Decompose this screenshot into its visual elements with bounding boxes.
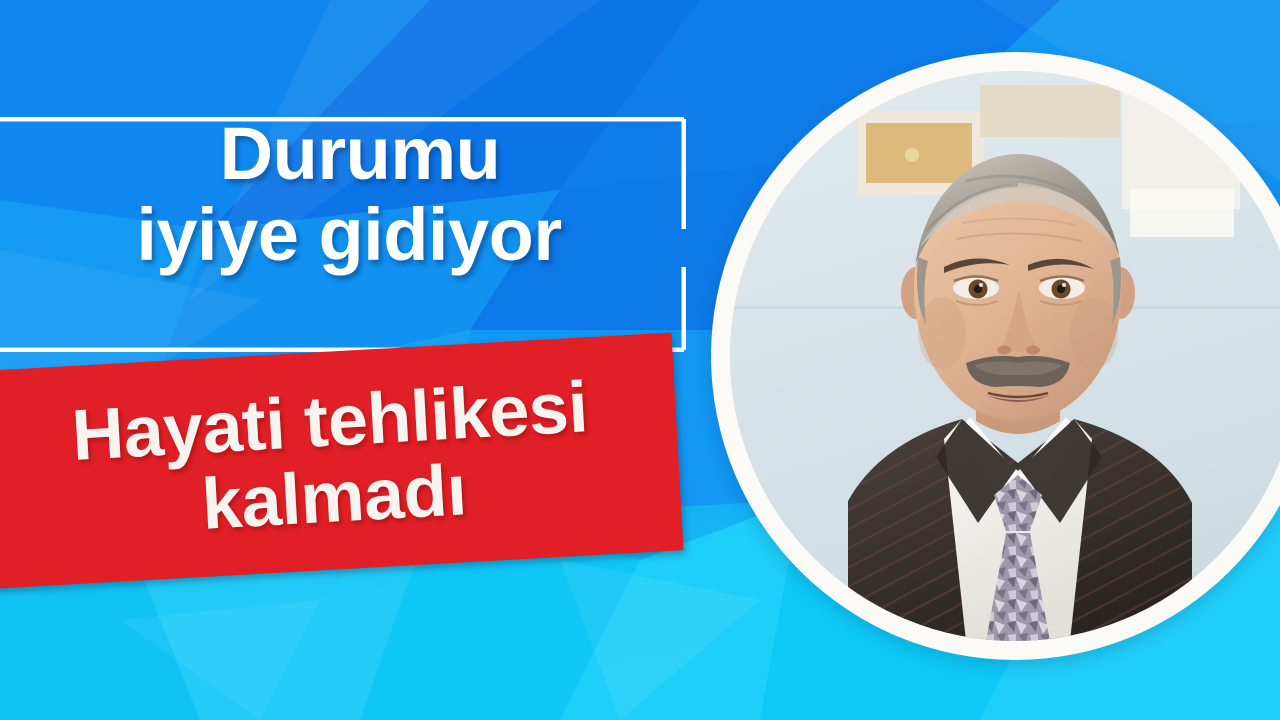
headline-line-1: Durumu [0,118,690,189]
alert-banner: Hayati tehlikesi kalmadı [0,332,684,589]
alert-banner-line-2: kalmadı [200,456,468,540]
portrait-photo-clip [730,71,1280,641]
alert-banner-text: Hayati tehlikesi kalmadı [0,332,684,589]
headline-text: Durumu iyiye gidiyor [0,118,690,270]
portrait-photo [730,71,1280,641]
portrait [711,52,1280,660]
headline-line-2: iyiye gidiyor [0,199,690,270]
news-headline-graphic: Durumu iyiye gidiyor Hayati tehlikesi ka… [0,0,1280,720]
